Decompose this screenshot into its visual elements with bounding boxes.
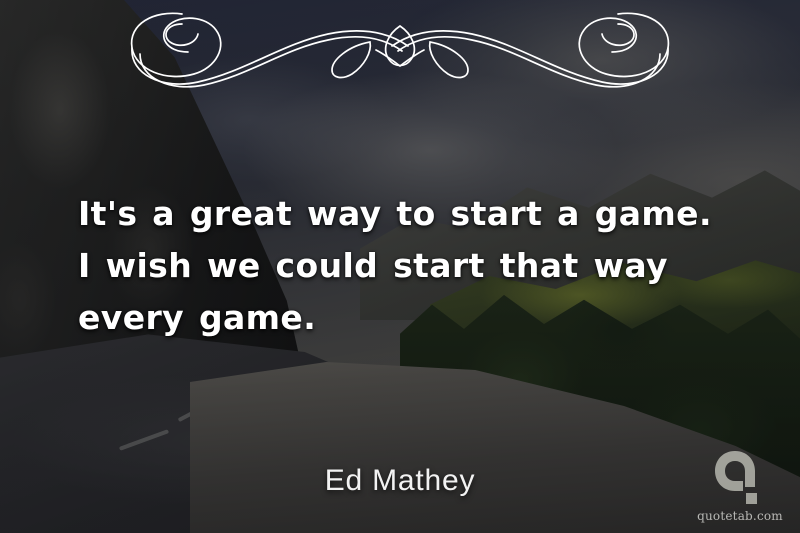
quote-text: It's a great way to start a game. I wish… [78, 188, 738, 344]
watermark-site-label: quotetab.com [697, 509, 783, 523]
quote-card: It's a great way to start a game. I wish… [0, 0, 800, 533]
quote-author: Ed Mathey [0, 464, 800, 498]
quotetab-q-logo-icon [713, 449, 767, 507]
decorative-flourish-icon [70, 8, 730, 88]
watermark[interactable]: quotetab.com [692, 449, 788, 523]
